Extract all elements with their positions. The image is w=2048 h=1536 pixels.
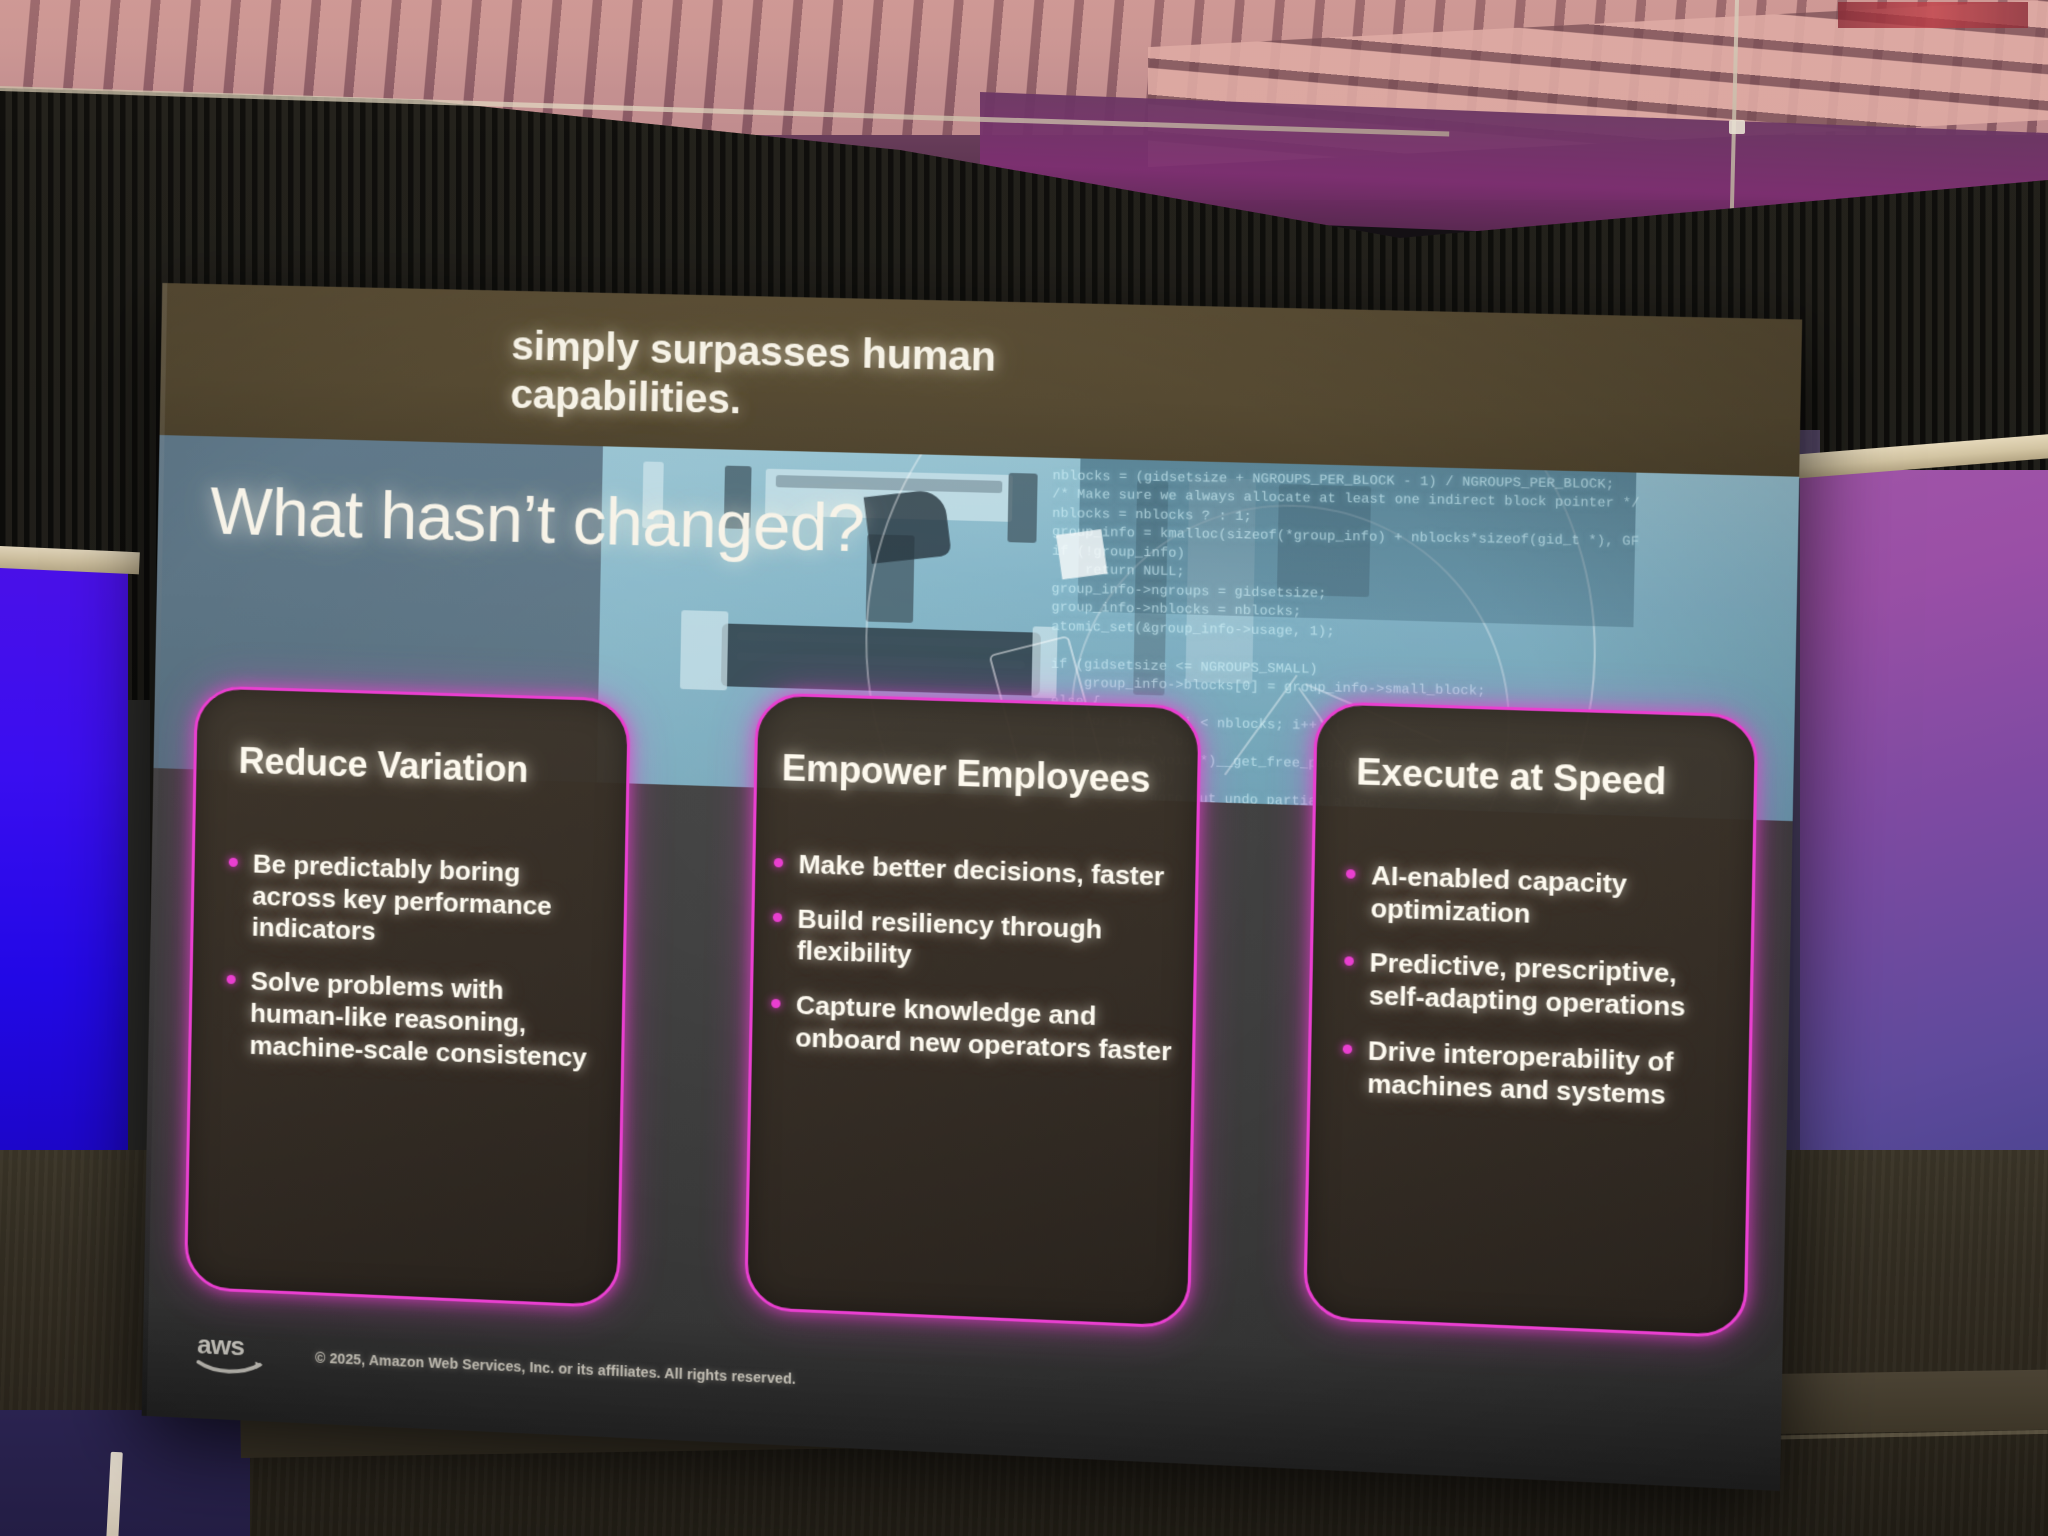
aws-logo: aws <box>194 1328 273 1378</box>
card-title: Reduce Variation <box>238 740 606 794</box>
copyright-text: © 2025, Amazon Web Services, Inc. or its… <box>315 1349 796 1387</box>
list-item: Build resiliency through flexibility <box>764 902 1186 981</box>
card-empower-employees: Empower Employees Make better decisions,… <box>744 692 1202 1329</box>
list-item: Capture knowledge and onboard new operat… <box>762 989 1184 1069</box>
red-stage-light <box>1838 2 2028 28</box>
card-execute-at-speed: Execute at Speed AI-enabled capacity opt… <box>1303 701 1758 1338</box>
list-item: Predictive, prescriptive, self-adapting … <box>1335 946 1740 1026</box>
slide-header-text: simply surpasses human capabilities. <box>510 323 1294 438</box>
list-item: Drive interoperability of machines and s… <box>1333 1034 1738 1114</box>
list-item: Be predictably boring across key perform… <box>219 847 606 956</box>
machine-end-plate <box>680 610 728 690</box>
card-title: Empower Employees <box>781 747 1176 802</box>
decorative-white-square <box>1056 529 1108 579</box>
stage-floor-left <box>0 1410 250 1536</box>
svg-text:aws: aws <box>197 1329 245 1361</box>
card-title: Execute at Speed <box>1356 751 1733 806</box>
list-item: Solve problems with human-like reasoning… <box>217 965 604 1075</box>
card-bullet-list: Be predictably boring across key perform… <box>217 847 607 1097</box>
cards-container: Reduce Variation Be predictably boring a… <box>178 669 1769 1368</box>
card-bullet-list: AI-enabled capacity optimization Predict… <box>1333 859 1742 1137</box>
card-reduce-variation: Reduce Variation Be predictably boring a… <box>184 685 631 1308</box>
cable-clip <box>1729 120 1745 134</box>
presentation-screen: simply surpasses human capabilities. <box>142 283 1803 1491</box>
venue-room: simply surpasses human capabilities. <box>0 0 2048 1536</box>
left-wall-blue-light <box>0 560 128 1160</box>
card-bullet-list: Make better decisions, faster Build resi… <box>762 848 1188 1092</box>
right-wall-purple-light <box>1800 470 2048 1190</box>
list-item: AI-enabled capacity optimization <box>1337 859 1742 938</box>
list-item: Make better decisions, faster <box>765 848 1187 895</box>
